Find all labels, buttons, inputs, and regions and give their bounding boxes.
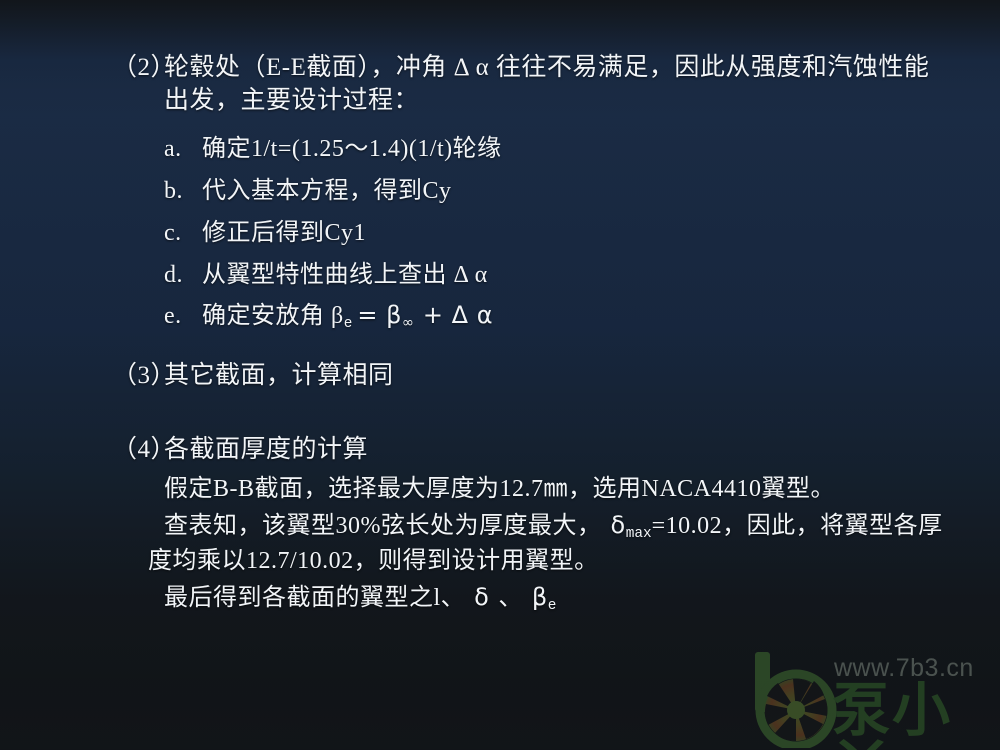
sub-item-d-text: 从翼型特性曲线上查出 Δ α <box>202 262 488 288</box>
sub-item-d: d.从翼型特性曲线上查出 Δ α <box>164 260 488 290</box>
slide-content: （2）轮毂处（E-E截面），冲角 Δ α 往往不易满足，因此从强度和汽蚀性能 出… <box>0 0 1000 750</box>
sub-item-e-suffix: + Δ α <box>423 301 493 329</box>
item-4-paragraph-2-suffix: =10.02，因此，将翼型各厚 <box>652 513 943 539</box>
sub-marker-c: c. <box>164 218 202 248</box>
sub-marker-a: a. <box>164 134 202 164</box>
sub-marker-d: d. <box>164 260 202 290</box>
sub-item-c: c.修正后得到Cy1 <box>164 218 366 248</box>
sub-item-b: b.代入基本方程，得到Cy <box>164 176 452 206</box>
sub-marker-b: b. <box>164 176 202 206</box>
sub-item-a-text: 确定1/t=(1.25～1.4)(1/t)轮缘 <box>202 136 502 162</box>
list-item-3: （3）其它截面，计算相同 <box>112 360 394 391</box>
delta-symbol: δ <box>611 511 626 539</box>
sub-item-e-subscript-e: e <box>344 316 353 332</box>
sub-item-e-subscript-infinity: ∞ <box>402 315 414 331</box>
list-item-3-text: 其它截面，计算相同 <box>164 362 394 389</box>
slide-canvas: （2）轮毂处（E-E截面），冲角 Δ α 往往不易满足，因此从强度和汽蚀性能 出… <box>0 0 1000 750</box>
delta-max-subscript: max <box>626 526 652 542</box>
item-4-paragraph-2-prefix: 查表知，该翼型30%弦长处为厚度最大， <box>164 513 602 539</box>
sub-item-e: e.确定安放角 βe= β∞+ Δ α <box>164 300 493 333</box>
delta-symbol-2: δ <box>474 583 489 611</box>
item-4-paragraph-2: 查表知，该翼型30%弦长处为厚度最大，δmax=10.02，因此，将翼型各厚 <box>164 510 943 544</box>
list-marker-3: （3） <box>112 360 164 391</box>
list-marker-2: （2） <box>112 52 164 83</box>
list-item-4-text: 各截面厚度的计算 <box>164 436 368 463</box>
list-item-2-text: 轮毂处（E-E截面），冲角 Δ α 往往不易满足，因此从强度和汽蚀性能 <box>164 54 929 81</box>
sub-item-e-middle: = β <box>357 301 402 329</box>
item-4-paragraph-4-separator: 、 <box>498 585 523 611</box>
list-item-2: （2）轮毂处（E-E截面），冲角 Δ α 往往不易满足，因此从强度和汽蚀性能 <box>112 52 929 83</box>
list-item-2-continuation: 出发，主要设计过程： <box>164 85 419 116</box>
item-4-paragraph-4: 最后得到各截面的翼型之l、δ、βe <box>164 582 556 616</box>
sub-item-a: a.确定1/t=(1.25～1.4)(1/t)轮缘 <box>164 134 502 164</box>
item-4-paragraph-4-prefix: 最后得到各截面的翼型之l、 <box>164 585 465 611</box>
sub-marker-e: e. <box>164 301 202 331</box>
list-marker-4: （4） <box>112 434 164 465</box>
sub-item-b-text: 代入基本方程，得到Cy <box>202 178 452 204</box>
beta-e-subscript: e <box>548 598 557 614</box>
sub-item-c-text: 修正后得到Cy1 <box>202 220 366 246</box>
item-4-paragraph-1: 假定B-B截面，选择最大厚度为12.7㎜，选用NACA4410翼型。 <box>164 474 835 505</box>
beta-symbol: β <box>532 583 548 611</box>
sub-item-e-prefix: 确定安放角 β <box>202 303 344 329</box>
list-item-4: （4）各截面厚度的计算 <box>112 434 368 465</box>
item-4-paragraph-3: 度均乘以12.7/10.02，则得到设计用翼型。 <box>148 546 599 577</box>
